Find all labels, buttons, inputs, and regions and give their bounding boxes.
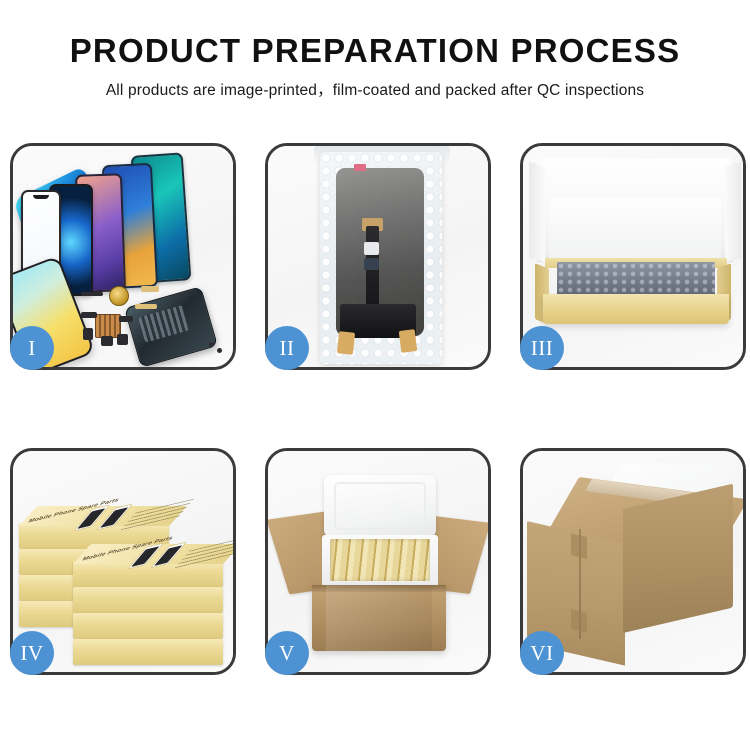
- small-part-c-icon: [101, 336, 113, 346]
- bubble-wrap-pouch-icon: [320, 152, 442, 364]
- flex-cable-a-icon: [141, 286, 159, 292]
- step-badge-6: VI: [520, 631, 564, 675]
- page-subtitle: All products are image-printed，film-coat…: [0, 78, 750, 100]
- chip-white-icon: [364, 242, 379, 255]
- step-panel-3: III: [520, 143, 746, 370]
- small-part-d-icon: [117, 334, 128, 345]
- phone-notch-icon: [33, 195, 49, 199]
- gold-tab-right-icon: [399, 329, 418, 353]
- gold-tab-left-icon: [337, 331, 355, 355]
- carton-tab-lower-icon: [571, 609, 587, 633]
- foam-lid-icon: [324, 475, 436, 537]
- carton-body-icon: [312, 585, 446, 651]
- vibration-motor-icon: [109, 286, 129, 306]
- step-panel-5: V: [265, 448, 491, 675]
- step-badge-3: III: [520, 326, 564, 370]
- box-top-face: Mobile Phone Spare Parts: [19, 506, 187, 526]
- product-preparation-page: PRODUCT PREPARATION PROCESS All products…: [0, 0, 750, 750]
- step-badge-2: II: [265, 326, 309, 370]
- step-badge-1: I: [10, 326, 54, 370]
- process-steps-grid: I II: [10, 143, 745, 675]
- step-panel-2: II: [265, 143, 491, 370]
- step-panel-4: Mobile Phone Spare Parts Mobile Phone Sp…: [10, 448, 236, 675]
- white-foam-sheet-icon: [549, 198, 721, 264]
- page-title: PRODUCT PREPARATION PROCESS: [0, 34, 750, 69]
- step-badge-5: V: [265, 631, 309, 675]
- pink-sticker-icon: [354, 164, 366, 171]
- flex-cable-b-icon: [135, 304, 157, 309]
- chip-dark-icon: [364, 258, 379, 270]
- small-part-b-icon: [83, 328, 93, 340]
- phone-chassis-icon: [124, 286, 218, 367]
- step-panel-1: I: [10, 143, 236, 370]
- box-top-face: Mobile Phone Spare Parts: [73, 544, 233, 564]
- box-front-panel-icon: [543, 294, 729, 324]
- screw-b-icon: [217, 348, 222, 353]
- earpiece-mesh-icon: [81, 292, 103, 296]
- small-part-e-icon: [119, 316, 133, 322]
- step-panel-6: VI: [520, 448, 746, 675]
- carton-tab-upper-icon: [571, 533, 587, 559]
- page-header: PRODUCT PREPARATION PROCESS All products…: [0, 0, 750, 100]
- box-stack-icon: Mobile Phone Spare Parts Mobile Phone Sp…: [17, 465, 233, 663]
- screw-a-icon: [209, 342, 214, 347]
- carton-right-face-icon: [623, 484, 733, 633]
- yellow-boxes-inside-icon: [330, 539, 430, 581]
- small-part-a-icon: [81, 312, 97, 318]
- step-badge-4: IV: [10, 631, 54, 675]
